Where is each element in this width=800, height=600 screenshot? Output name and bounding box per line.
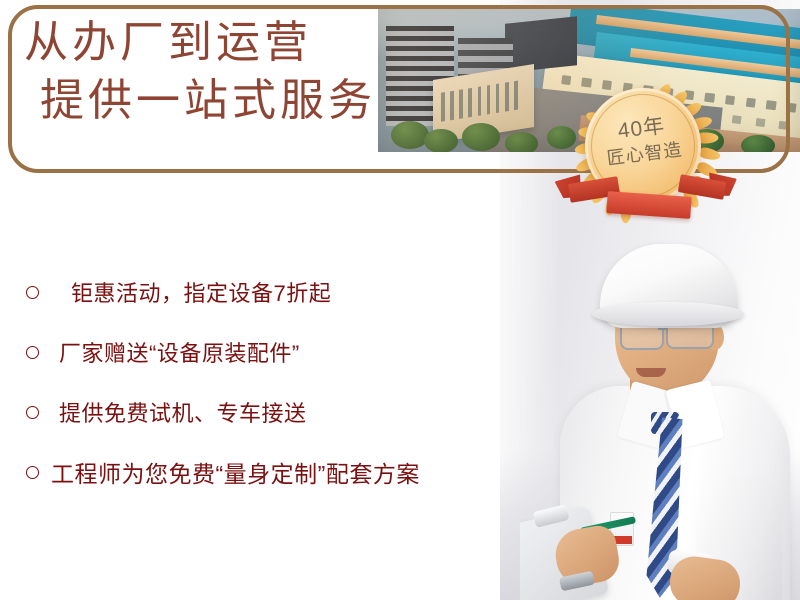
list-item-label: 提供免费试机、专车接送: [59, 396, 307, 428]
benefits-list: 钜惠活动，指定设备7折起 厂家赠送“设备原装配件” 提供免费试机、专车接送 工程…: [26, 262, 496, 502]
headline-line-2: 提供一站式服务: [40, 72, 374, 130]
list-item: 钜惠活动，指定设备7折起: [26, 262, 496, 322]
list-item-label: 钜惠活动，指定设备7折起: [71, 276, 331, 308]
headline-line-1: 从办厂到运营: [24, 14, 374, 72]
poster-canvas: 从办厂到运营 提供一站式服务 40年: [0, 0, 800, 600]
page-title: 从办厂到运营 提供一站式服务: [24, 14, 374, 130]
engineer-mouth: [636, 368, 666, 377]
list-item: 工程师为您免费“量身定制”配套方案: [26, 442, 496, 502]
list-item: 厂家赠送“设备原装配件”: [26, 322, 496, 382]
hard-hat-logo: [638, 260, 682, 278]
circle-outline-icon: [26, 346, 39, 359]
anniversary-badge: 40年 匠心智造: [563, 78, 731, 230]
circle-outline-icon: [26, 466, 39, 479]
list-item-label: 工程师为您免费“量身定制”配套方案: [51, 455, 420, 489]
circle-outline-icon: [26, 406, 39, 419]
list-item: 提供免费试机、专车接送: [26, 382, 496, 442]
hard-hat-brim: [592, 302, 744, 326]
badge-ribbon: [555, 170, 741, 232]
list-item-label: 厂家赠送“设备原装配件”: [59, 336, 300, 368]
eyeglasses-bridge: [658, 328, 668, 330]
circle-outline-icon: [26, 286, 39, 299]
engineer-photo: [520, 236, 800, 600]
ribbon-center-band: [606, 191, 691, 219]
